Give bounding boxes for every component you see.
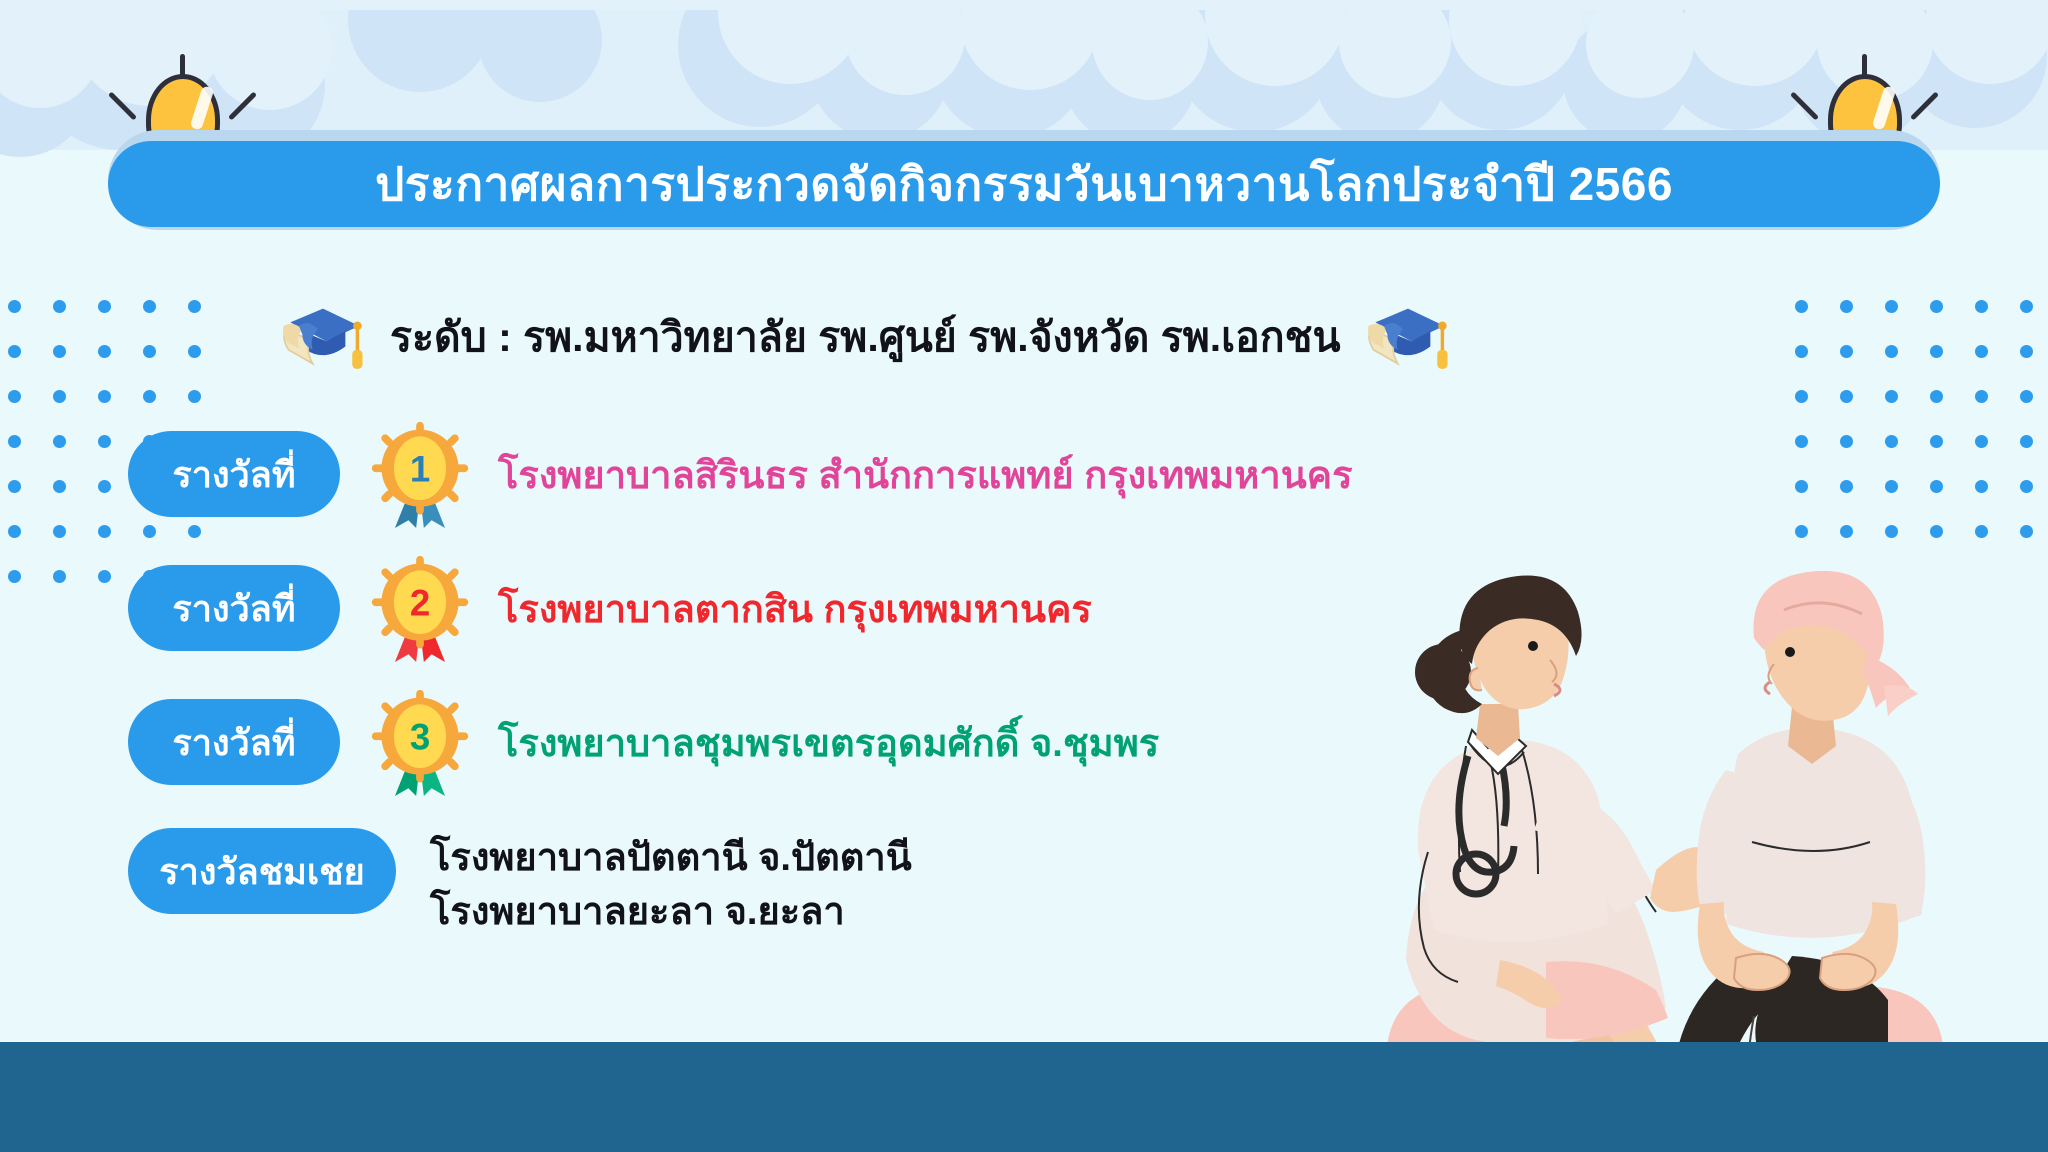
dot [1840,390,1853,403]
dot [1975,390,1988,403]
dot [1795,435,1808,448]
dot [1840,480,1853,493]
dot [8,525,21,538]
dot [1840,345,1853,358]
consolation-pill: รางวัลชมเชย [128,828,396,914]
dot [1975,525,1988,538]
dot [1840,300,1853,313]
graduation-cap-icon-left [280,300,366,374]
dot [8,570,21,583]
dot [1930,300,1943,313]
award-winner-2: โรงพยาบาลตากสิน กรุงเทพมหานคร [498,578,1092,639]
rank-pill-label-3: รางวัลที่ [172,714,295,771]
dot [2020,525,2033,538]
dot [2020,480,2033,493]
graduation-cap-icon-right [1365,300,1451,374]
dot [188,345,201,358]
dot [1975,435,1988,448]
award-row-3: รางวัลที่ [128,688,1448,796]
dot [98,525,111,538]
dot [1795,390,1808,403]
dot [1840,525,1853,538]
dot [8,300,21,313]
award-row-1: รางวัลที่ [128,420,1448,528]
dot [1885,390,1898,403]
dot [1975,345,1988,358]
medal-icon-1: 1 [364,420,476,528]
dot [1930,435,1943,448]
consolation-winner-1: โรงพยาบาลปัตตานี จ.ปัตตานี [430,832,912,886]
medal-rank-number-1: 1 [410,449,430,490]
award-winner-1: โรงพยาบาลสิรินธร สำนักการแพทย์ กรุงเทพมห… [498,444,1353,505]
rank-pill-3: รางวัลที่ [128,699,340,785]
dot [53,525,66,538]
medal-rank-number-2: 2 [410,583,430,624]
dot [2020,435,2033,448]
consolation-winners: โรงพยาบาลปัตตานี จ.ปัตตานี โรงพยาบาลยะลา… [430,832,912,940]
dot [8,390,21,403]
dot [2020,300,2033,313]
dot [1885,300,1898,313]
dot [98,345,111,358]
rank-pill-1: รางวัลที่ [128,431,340,517]
dot [188,300,201,313]
dot [53,480,66,493]
dot [1795,300,1808,313]
rank-pill-label-2: รางวัลที่ [172,580,295,637]
dot [143,390,156,403]
dot [2020,345,2033,358]
dot [98,390,111,403]
dot [53,390,66,403]
dot [143,345,156,358]
dot [188,390,201,403]
award-row-2: รางวัลที่ [128,554,1448,662]
dot [8,480,21,493]
dot [98,570,111,583]
medal-icon-3: 3 [364,688,476,796]
banner-body: ประกาศผลการประกวดจัดกิจกรรมวันเบาหวานโลก… [108,141,1940,227]
dot [2020,390,2033,403]
bottom-bar [0,1042,2048,1152]
dot [98,480,111,493]
dot [1840,435,1853,448]
consolation-pill-label: รางวัลชมเชย [159,843,364,900]
dot [1975,300,1988,313]
dot [53,345,66,358]
poster-canvas: ประกาศผลการประกวดจัดกิจกรรมวันเบาหวานโลก… [0,0,2048,1152]
dot [1795,345,1808,358]
dot [143,300,156,313]
medal-icon-2: 2 [364,554,476,662]
level-row: ระดับ : รพ.มหาวิทยาลัย รพ.ศูนย์ รพ.จังหว… [280,292,1400,382]
level-label: ระดับ : รพ.มหาวิทยาลัย รพ.ศูนย์ รพ.จังหว… [390,305,1341,370]
dot [53,300,66,313]
dot [8,435,21,448]
dot [8,345,21,358]
title-banner: ประกาศผลการประกวดจัดกิจกรรมวันเบาหวานโลก… [108,130,1940,230]
rank-pill-2: รางวัลที่ [128,565,340,651]
awards-list: รางวัลที่ [128,420,1448,940]
dot [98,300,111,313]
dot [1795,480,1808,493]
dot [1885,345,1898,358]
dot [98,435,111,448]
dot [1885,480,1898,493]
dot [1975,480,1988,493]
dot [1930,525,1943,538]
page-title: ประกาศผลการประกวดจัดกิจกรรมวันเบาหวานโลก… [375,148,1673,221]
dot [53,570,66,583]
dot [1930,390,1943,403]
dot [1885,435,1898,448]
dot [1930,480,1943,493]
dot [1795,525,1808,538]
dot [1930,345,1943,358]
dot [1885,525,1898,538]
medal-rank-number-3: 3 [410,717,430,758]
consolation-winner-2: โรงพยาบาลยะลา จ.ยะลา [430,886,912,940]
consolation-row: รางวัลชมเชย โรงพยาบาลปัตตานี จ.ปัตตานี โ… [128,828,1448,940]
award-winner-3: โรงพยาบาลชุมพรเขตรอุดมศักดิ์ จ.ชุมพร [498,712,1159,773]
dot [53,435,66,448]
rank-pill-label-1: รางวัลที่ [172,446,295,503]
